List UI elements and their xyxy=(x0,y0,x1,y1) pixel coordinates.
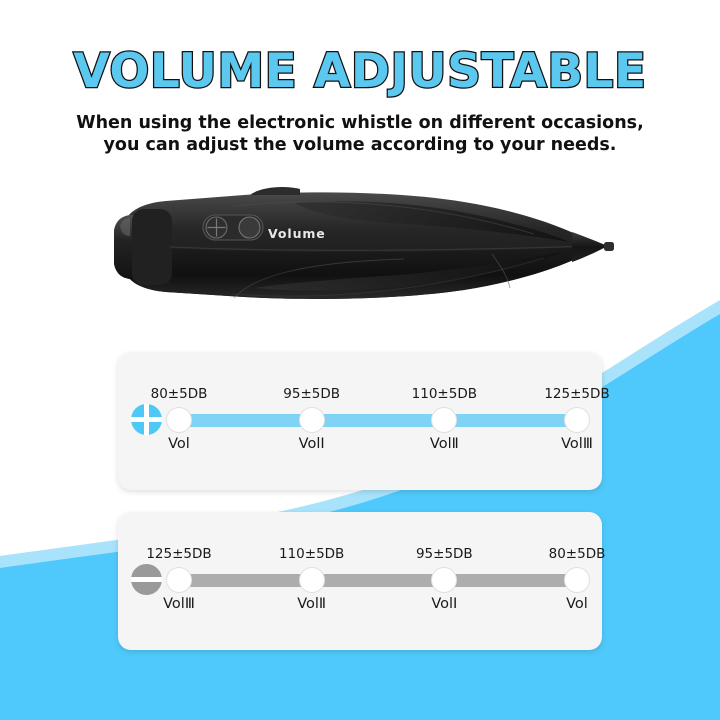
plus-icon[interactable] xyxy=(131,404,162,435)
slider-stop-label: VolⅠ xyxy=(384,596,504,612)
slider-stop-label: Vol xyxy=(517,596,637,612)
slider-stop-label: VolⅢ xyxy=(517,436,637,452)
minus-icon-bar-horizontal xyxy=(131,577,162,582)
marketing-image: VOLUME ADJUSTABLE When using the electro… xyxy=(0,0,720,720)
slider-knob[interactable] xyxy=(166,567,192,593)
volume-up-slider[interactable]: 80±5DB Vol 95±5DB VolⅠ 110±5DB VolⅡ 125±… xyxy=(173,388,583,458)
slider-stop-label: VolⅢ xyxy=(119,596,239,612)
slider-stop-db: 110±5DB xyxy=(252,546,372,562)
slider-knob[interactable] xyxy=(431,407,457,433)
volume-up-card: 80±5DB Vol 95±5DB VolⅠ 110±5DB VolⅡ 125±… xyxy=(118,352,602,490)
slider-knob[interactable] xyxy=(166,407,192,433)
whistle-top-nub xyxy=(250,187,300,195)
slider-knob[interactable] xyxy=(299,567,325,593)
product-image-electronic-whistle xyxy=(104,176,616,318)
slider-stop-label: VolⅡ xyxy=(384,436,504,452)
subtitle-line-2: you can adjust the volume according to y… xyxy=(60,134,660,156)
slider-stop-db: 80±5DB xyxy=(517,546,637,562)
slider-knob[interactable] xyxy=(564,567,590,593)
volume-down-card: 125±5DB VolⅢ 110±5DB VolⅡ 95±5DB VolⅠ 80… xyxy=(118,512,602,650)
whistle-body-lower-shade xyxy=(124,246,596,299)
slider-stop-db: 125±5DB xyxy=(119,546,239,562)
minus-icon[interactable] xyxy=(131,564,162,595)
slider-stop-db: 110±5DB xyxy=(384,386,504,402)
page-title: VOLUME ADJUSTABLE xyxy=(0,46,720,98)
slider-stop-label: VolⅠ xyxy=(252,436,372,452)
plus-icon-bar-vertical xyxy=(144,404,149,435)
slider-stop-db: 80±5DB xyxy=(119,386,239,402)
whistle-tip xyxy=(572,232,608,262)
volume-down-button xyxy=(239,217,260,238)
slider-track[interactable] xyxy=(179,574,577,587)
slider-stop-db: 95±5DB xyxy=(384,546,504,562)
slider-stop-label: Vol xyxy=(119,436,239,452)
slider-knob[interactable] xyxy=(431,567,457,593)
whistle-tip-end xyxy=(604,242,614,251)
slider-stop-db: 95±5DB xyxy=(252,386,372,402)
subtitle-line-1: When using the electronic whistle on dif… xyxy=(76,113,643,133)
slider-stop-db: 125±5DB xyxy=(517,386,637,402)
slider-knob[interactable] xyxy=(299,407,325,433)
product-volume-label: Volume xyxy=(268,226,326,241)
slider-stop-label: VolⅡ xyxy=(252,596,372,612)
slider-knob[interactable] xyxy=(564,407,590,433)
volume-down-slider[interactable]: 125±5DB VolⅢ 110±5DB VolⅡ 95±5DB VolⅠ 80… xyxy=(173,548,583,618)
slider-track[interactable] xyxy=(179,414,577,427)
page-subtitle: When using the electronic whistle on dif… xyxy=(60,112,660,156)
whistle-cap-band xyxy=(132,209,172,285)
